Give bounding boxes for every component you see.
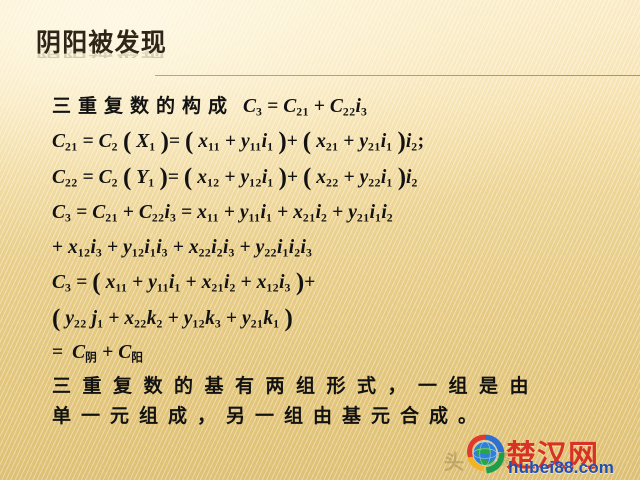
title-divider-rule xyxy=(155,75,640,76)
globe-logo-icon xyxy=(462,432,508,476)
slide-canvas: 阴阳被发现 阴阳被发现 三重复数的构成C3 = C21 + C22i3 C21 … xyxy=(0,0,640,480)
slide-title-reflection: 阴阳被发现 xyxy=(36,44,596,58)
slide-title-block: 阴阳被发现 阴阳被发现 xyxy=(36,31,596,87)
line1-math: C3 = C21 + C22i3 xyxy=(243,96,367,117)
watermark-url: hubei88.com xyxy=(508,458,614,478)
formula-line-4: C3 = C21 + C22i3 = x11 + y11i1 + x21i2 +… xyxy=(52,198,608,233)
slide-body: 三重复数的构成C3 = C21 + C22i3 C21 = C2(X1)= (x… xyxy=(52,92,608,432)
formula-line-2: C21 = C2(X1)= (x11 + y11i1)+ (x21 + y21i… xyxy=(52,127,608,162)
formula-line-1: 三重复数的构成C3 = C21 + C22i3 xyxy=(52,92,608,127)
line1-chinese-label: 三重复数的构成 xyxy=(52,96,234,117)
body-text-line-1: 三重复数的基有两组形式，一组是由 xyxy=(52,372,608,402)
formula-line-7: (y22j1 + x22k2 + y12k3 + y21k1) xyxy=(52,304,608,339)
watermark: 头 条 楚汉网 hubei88.com xyxy=(452,428,640,480)
formula-line-3: C22 = C2(Y1)= (x12 + y12i1)+ (x22 + y22i… xyxy=(52,163,608,198)
formula-line-6: C3 = (x11 + y11i1 + x21i2 + x12i3)+ xyxy=(52,268,608,303)
formula-line-8: =C阴 + C阳 xyxy=(52,339,608,372)
formula-line-5: + x12i3 + y12i1i3 + x22i2i3 + y22i1i2i3 xyxy=(52,233,608,268)
